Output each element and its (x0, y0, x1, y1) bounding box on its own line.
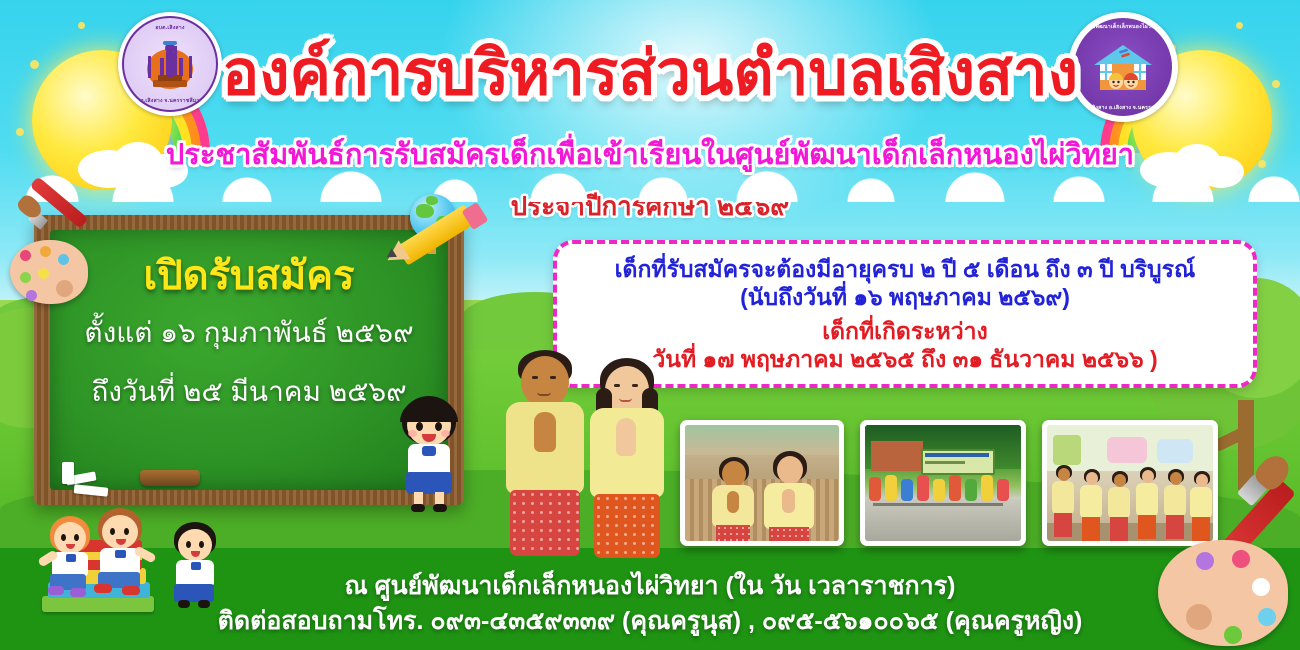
info-birth-range: วันที่ ๑๗ พฤษภาคม ๒๕๖๕ ถึง ๓๑ ธันวาคม ๒๕… (652, 345, 1157, 373)
info-age-requirement: เด็กที่รับสมัครจะต้องมีอายุครบ ๒ ปี ๕ เด… (615, 255, 1196, 283)
photo-thumbnail-2[interactable] (860, 420, 1026, 546)
photo-thumbnail-3[interactable] (1042, 420, 1218, 546)
cartoon-girl-student (390, 396, 468, 512)
chalkboard-headline: เปิดรับสมัคร (144, 256, 355, 296)
chalk-icon (62, 462, 74, 484)
chalkboard-surface: เปิดรับสมัคร ตั้งแต่ ๑๖ กุมภาพันธ์ ๒๕๖๙ … (50, 230, 448, 490)
child-photo-girl-center (576, 358, 678, 566)
announcement-banner: อบต.เสิงสาง อ.เสิงสาง จ.นครราชสีมา ศูนย์… (0, 0, 1300, 650)
venue-label: ณ ศูนย์พัฒนาเด็กเล็กหนองไผ่วิทยา (ใน วัน… (0, 566, 1300, 606)
photo-thumbnail-1[interactable] (680, 420, 844, 546)
info-count-date: (นับถึงวันที่ ๑๖ พฤษภาคม ๒๕๖๙) (740, 283, 1070, 311)
chalkboard-date-to: ถึงวันที่ ๒๕ มีนาคม ๒๕๖๙ (91, 370, 406, 414)
cloud-band (0, 132, 1300, 202)
eraser-icon (140, 470, 200, 486)
wai-hands (616, 418, 636, 456)
contact-label: ติดต่อสอบถามโทร. ๐๙๓-๔๓๕๙๓๓๙ (คุณครูนุส)… (0, 601, 1300, 641)
chalkboard-date-from: ตั้งแต่ ๑๖ กุมภาพันธ์ ๒๕๖๙ (84, 311, 413, 355)
info-birth-range-label: เด็กที่เกิดระหว่าง (822, 317, 988, 345)
page-title: องค์การบริหารส่วนตำบลเสิงสาง (0, 24, 1300, 122)
wai-hands (534, 412, 556, 452)
